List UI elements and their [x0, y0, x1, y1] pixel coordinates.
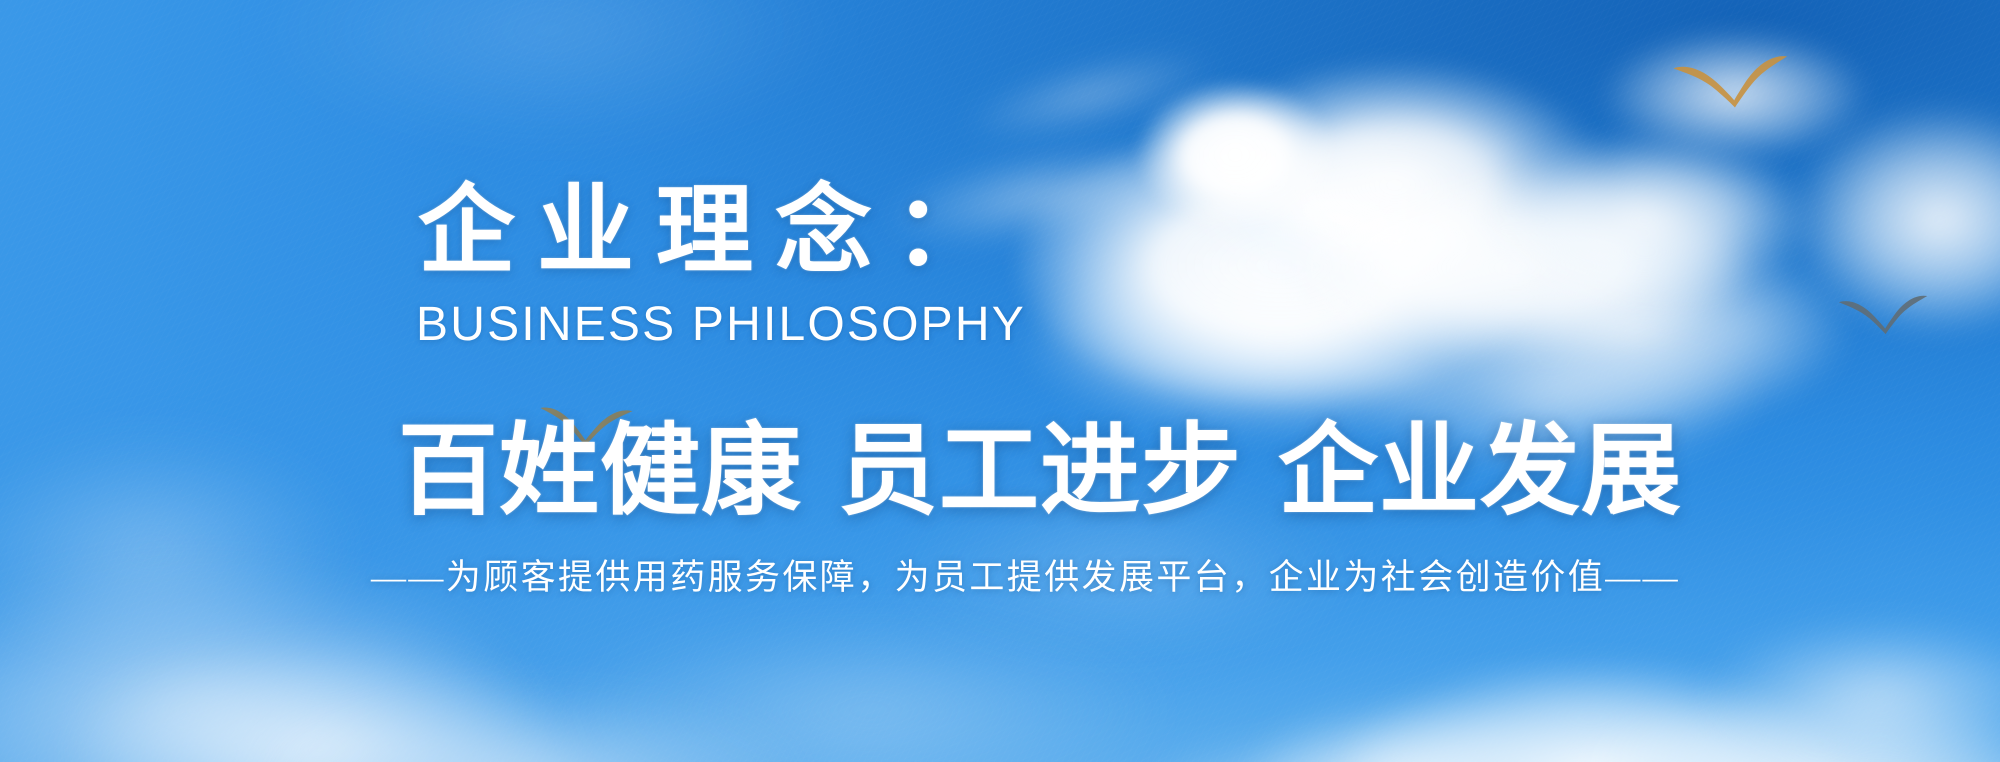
headline-segment-2: 员工进步	[838, 415, 1242, 527]
banner-text-layer: 企业理念： BUSINESS PHILOSOPHY 百姓健康员工进步企业发展 —…	[0, 0, 2000, 762]
headline-segment-3: 企业发展	[1278, 415, 1682, 527]
page-subtitle-english: BUSINESS PHILOSOPHY	[416, 298, 1026, 352]
headline-segment-1: 百姓健康	[398, 415, 802, 527]
page-title: 企业理念：	[418, 172, 1013, 290]
tagline: ——为顾客提供用药服务保障，为员工提供发展平台，企业为社会创造价值——	[371, 556, 1680, 600]
headline: 百姓健康员工进步企业发展	[398, 415, 1682, 527]
business-philosophy-banner: 企业理念： BUSINESS PHILOSOPHY 百姓健康员工进步企业发展 —…	[0, 0, 2000, 762]
